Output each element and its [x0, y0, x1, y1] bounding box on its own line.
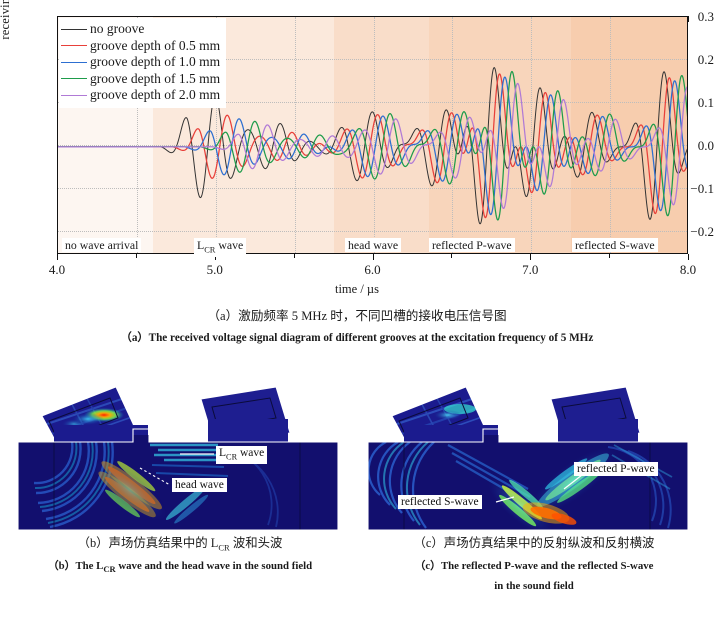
legend-item-0: no groove: [61, 21, 220, 38]
legend-swatch-line: [61, 78, 87, 79]
legend-swatch-line: [61, 95, 87, 96]
legend-label: groove depth of 1.0 mm: [90, 54, 220, 71]
region-label-reflected-p-wave: reflected P-wave: [429, 238, 515, 252]
panel-b-simulation: LCR wave head wave: [18, 385, 338, 530]
x-tick-top: [688, 16, 689, 22]
x-tick-label-4: 8.0: [658, 262, 714, 278]
x-tick-label-3: 7.0: [500, 262, 560, 278]
x-tick-label-1: 5.0: [185, 262, 245, 278]
coupler-right-b: [208, 419, 288, 443]
legend-label: groove depth of 0.5 mm: [90, 38, 220, 55]
caption-b-en-sub: CR: [103, 564, 115, 574]
coupler-right-c: [558, 419, 638, 443]
legend-swatch-line: [61, 29, 87, 30]
legend-label: groove depth of 2.0 mm: [90, 87, 220, 104]
x-tick-label-2: 6.0: [343, 262, 403, 278]
x-tick-major: [373, 254, 374, 260]
caption-b-chinese: （b）声场仿真结果中的 LCR 波和头波: [10, 535, 350, 556]
region-label-lcr-sub: CR: [204, 245, 215, 254]
caption-c-chinese: （c）声场仿真结果中的反射纵波和反射横波: [364, 535, 704, 552]
legend-label: groove depth of 1.5 mm: [90, 71, 220, 88]
x-tick-major: [57, 254, 58, 260]
annotation-lcr-wave-b: LCR wave: [216, 446, 267, 464]
annotation-lcr-text: L: [219, 447, 226, 459]
legend-item-4: groove depth of 2.0 mm: [61, 87, 220, 104]
y-axis-label: receiving voltage / V: [0, 0, 13, 60]
legend: no groove groove depth of 0.5 mm groove …: [59, 18, 226, 108]
caption-b-cn-post: 波和头波: [230, 536, 283, 550]
caption-c-english-line1: （c）The reflected P-wave and the reflecte…: [364, 558, 704, 575]
caption-c-english-line2: in the sound field: [364, 578, 704, 595]
caption-b-cn-sub: CR: [218, 542, 229, 552]
legend-swatch-line: [61, 45, 87, 46]
sim-field-b: [18, 385, 338, 530]
region-label-lcr-suffix: wave: [215, 238, 243, 252]
caption-b-cn-pre: （b）声场仿真结果中的 L: [78, 536, 219, 550]
annotation-reflected-p-wave-c: reflected P-wave: [574, 462, 658, 476]
legend-item-2: groove depth of 1.0 mm: [61, 54, 220, 71]
panel-c-simulation: reflected P-wave reflected S-wave: [368, 385, 688, 530]
legend-item-1: groove depth of 0.5 mm: [61, 38, 220, 55]
annotation-lcr-suffix: wave: [237, 447, 264, 459]
legend-swatch-line: [61, 62, 87, 63]
x-tick-label-0: 4.0: [27, 262, 87, 278]
x-tick-minor: [609, 254, 610, 258]
caption-b-en-pre: （b）The L: [48, 560, 104, 572]
region-label-lcr-wave: LCR wave: [194, 238, 246, 257]
x-tick-minor: [136, 254, 137, 258]
x-tick-minor: [294, 254, 295, 258]
region-label-no-wave-arrival: no wave arrival: [62, 238, 141, 252]
x-axis-label: time / µs: [0, 282, 714, 297]
annotation-lcr-sub: CR: [226, 452, 237, 461]
caption-b-english: （b）The LCR wave and the head wave in the…: [10, 558, 350, 578]
caption-a-chinese: （a）激励频率 5 MHz 时，不同凹槽的接收电压信号图: [0, 308, 714, 325]
region-label-head-wave: head wave: [345, 238, 401, 252]
specimen-block-c: [368, 435, 688, 530]
panel-a-chart: receiving voltage / V 0.3 0.2 0.1 0.0 −0…: [0, 0, 714, 300]
caption-b-en-post: wave and the head wave in the sound fiel…: [116, 560, 312, 572]
annotation-reflected-s-wave-c: reflected S-wave: [398, 495, 482, 509]
region-label-reflected-s-wave: reflected S-wave: [572, 238, 658, 252]
legend-item-3: groove depth of 1.5 mm: [61, 71, 220, 88]
x-tick-major: [688, 254, 689, 260]
caption-a-english: （a）The received voltage signal diagram o…: [0, 330, 714, 347]
x-tick-major: [530, 254, 531, 260]
annotation-head-wave-b: head wave: [172, 478, 227, 492]
x-tick-minor: [451, 254, 452, 258]
legend-label: no groove: [90, 21, 144, 38]
